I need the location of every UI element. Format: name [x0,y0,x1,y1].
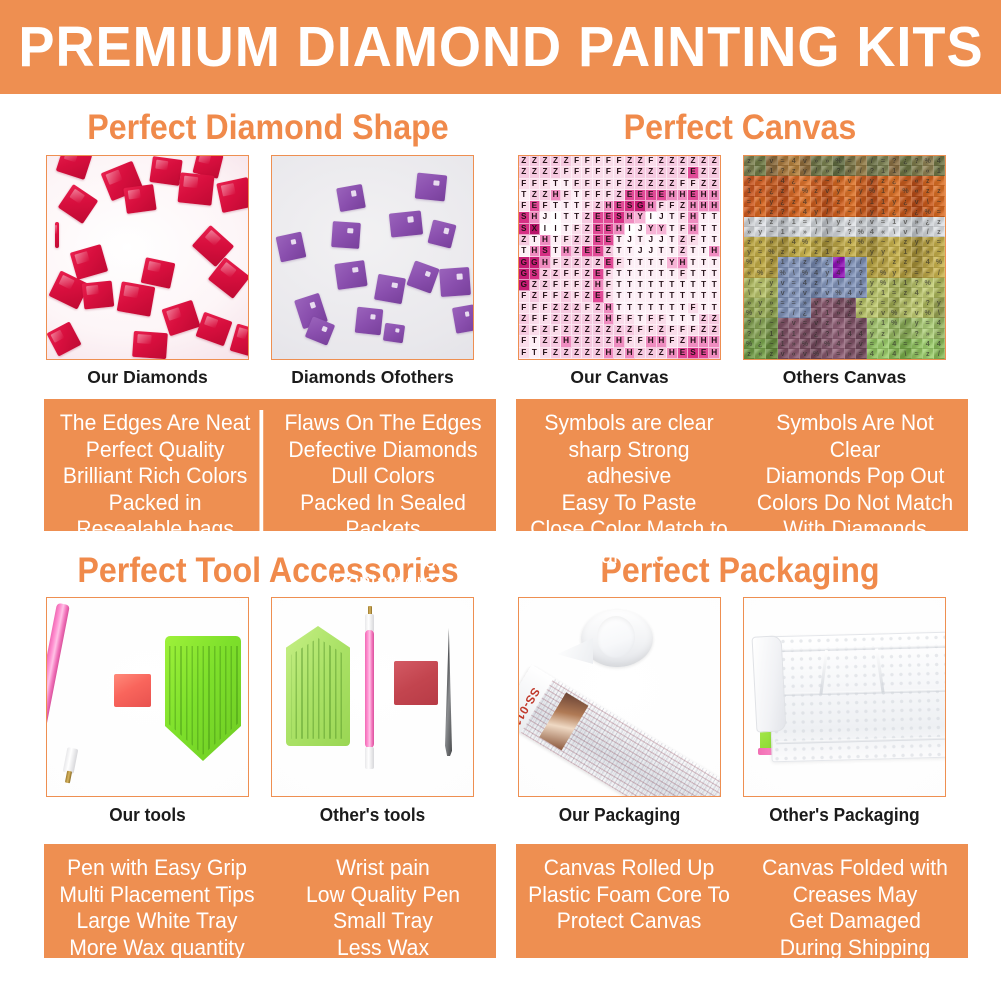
canvas-symbol-cell: E [657,190,668,201]
canvas-symbol-cell: ≈ [912,268,923,278]
canvas-symbol-cell: y [755,298,766,308]
canvas-symbol-cell: F [561,280,572,291]
diamond-bead [452,304,474,333]
canvas-symbol-cell: ≈ [878,156,889,166]
canvas-symbol-cell: T [635,280,646,291]
canvas-symbol-cell: z [778,247,789,257]
canvas-symbol-cell: v [778,278,789,288]
bubble-mailer [768,632,946,763]
canvas-symbol-cell: Z [646,167,657,178]
canvas-symbol-cell: ? [867,166,878,176]
canvas-symbol-cell: y [755,227,766,237]
canvas-symbol-cell: F [572,291,583,302]
photo-our-packaging: SS-011 [518,597,721,797]
canvas-symbol-cell: E [646,190,657,201]
canvas-symbol-cell: « [889,247,900,257]
canvas-symbol-cell: Z [530,167,541,178]
canvas-symbol-cell: v [800,156,811,166]
canvas-symbol-cell: F [551,291,562,302]
canvas-symbol-cell: Z [551,303,562,314]
canvas-symbol-cell: / [878,257,889,267]
canvas-symbol-cell: ~ [755,278,766,288]
canvas-symbol-cell: E [604,235,615,246]
canvas-symbol-cell: T [551,246,562,257]
canvas-symbol-cell: » [789,207,800,217]
canvas-symbol-cell: ? [822,329,833,339]
canvas-symbol-cell: » [923,247,934,257]
canvas-symbol-cell: ? [845,227,856,237]
canvas-symbol-cell: % [934,257,945,267]
canvas-symbol-cell: 4 [789,156,800,166]
canvas-symbol-cell: » [744,166,755,176]
canvas-symbol-cell: T [667,303,678,314]
canvas-symbol-cell: T [561,201,572,212]
canvas-symbol-cell: » [923,329,934,339]
canvas-symbol-cell: % [878,268,889,278]
canvas-symbol-cell: y [822,268,833,278]
diamond-bead [427,219,456,248]
canvas-symbol-cell: H [699,201,710,212]
caption-our-diamonds: Our Diamonds [46,369,249,387]
canvas-symbol-cell: 4 [833,339,844,349]
canvas-symbol-cell: ≈ [845,318,856,328]
canvas-symbol-cell: v [867,318,878,328]
canvas-symbol-cell: E [688,167,699,178]
canvas-symbol-cell: Z [572,336,583,347]
canvas-symbol-cell: E [582,246,593,257]
canvas-symbol-cell: \ [744,288,755,298]
canvas-symbol-cell: F [540,348,551,359]
canvas-symbol-cell: / [755,318,766,328]
canvas-symbol-cell: T [519,190,530,201]
canvas-symbol-cell: Z [561,314,572,325]
canvas-symbol-cell: Z [572,257,583,268]
canvas-symbol-cell: I [625,224,636,235]
canvas-symbol-cell: « [878,227,889,237]
canvas-symbol-cell: F [678,269,689,280]
canvas-symbol-cell: v [867,217,878,227]
canvas-symbol-cell: H [604,348,615,359]
canvas-symbol-cell: F [604,291,615,302]
canvas-symbol-cell: 1 [766,329,777,339]
canvas-symbol-cell: 1 [889,217,900,227]
canvas-symbol-cell: % [833,156,844,166]
canvas-symbol-cell: H [699,336,710,347]
diamond-bead [406,260,439,293]
canvas-symbol-cell: « [856,217,867,227]
canvas-symbol-cell: ≈ [867,339,878,349]
canvas-symbol-cell: » [800,227,811,237]
canvas-symbol-cell: \ [900,349,911,359]
pen-end-cap-icon [365,747,374,769]
applicator-pen-icon [365,630,374,748]
panel-line: Packed in [54,490,257,517]
canvas-symbol-cell: F [540,314,551,325]
canvas-symbol-cell: z [755,217,766,227]
canvas-symbol-cell: T [561,224,572,235]
canvas-symbol-cell: F [519,348,530,359]
canvas-symbol-cell: F [614,314,625,325]
canvas-symbol-cell: I [540,224,551,235]
canvas-symbol-cell: Z [657,167,668,178]
canvas-symbol-cell: ≈ [934,237,945,247]
canvas-symbol-cell: ~ [900,329,911,339]
canvas-symbol-cell: F [572,179,583,190]
diamond-bead [56,155,93,180]
canvas-symbol-cell: Z [582,314,593,325]
canvas-symbol-cell: y [766,278,777,288]
canvas-symbol-cell: z [778,186,789,196]
canvas-symbol-cell: F [625,314,636,325]
canvas-symbol-cell: ~ [878,237,889,247]
canvas-symbol-cell: H [604,201,615,212]
canvas-symbol-cell: Z [709,325,720,336]
canvas-symbol-cell: T [625,269,636,280]
section-title-diamond-shape: Perfect Diamond Shape [58,110,478,145]
canvas-symbol-cell: 1 [778,329,789,339]
panel-line: Easy To Paste [526,490,733,517]
canvas-symbol-cell: Z [561,348,572,359]
panel-column-ours: The Edges Are NeatPerfect QualityBrillia… [51,410,263,531]
canvas-symbol-cell: % [833,288,844,298]
page-title: PREMIUM DIAMOND PAINTING KITS [18,19,983,76]
canvas-symbol-cell: Z [582,269,593,280]
canvas-symbol-cell: 1 [878,186,889,196]
canvas-symbol-cell: Z [635,179,646,190]
canvas-symbol-cell: Z [582,348,593,359]
canvas-symbol-cell: z [934,217,945,227]
canvas-symbol-cell: ~ [934,176,945,186]
canvas-symbol-cell: v [800,349,811,359]
canvas-symbol-cell: v [811,298,822,308]
canvas-symbol-cell: T [699,269,710,280]
canvas-symbol-cell: F [625,336,636,347]
canvas-symbol-cell: ≈ [856,318,867,328]
canvas-symbol-cell: H [699,190,710,201]
diamond-bead [141,257,176,289]
canvas-symbol-cell: Z [540,280,551,291]
canvas-symbol-cell: y [845,257,856,267]
canvas-symbol-cell: y [867,176,878,186]
canvas-symbol-cell: H [646,336,657,347]
canvas-symbol-cell: Z [582,336,593,347]
canvas-symbol-cell: ? [778,207,789,217]
canvas-symbol-cell: F [572,167,583,178]
canvas-symbol-cell: ¿ [800,308,811,318]
canvas-symbol-cell: F [540,201,551,212]
canvas-symbol-cell: 4 [856,329,867,339]
canvas-symbol-cell: T [709,280,720,291]
canvas-symbol-cell: F [519,336,530,347]
canvas-symbol-cell: « [867,237,878,247]
panel-canvas: Symbols are clearsharp Strong adhesiveEa… [516,399,968,531]
canvas-symbol-cell: / [744,278,755,288]
canvas-symbol-cell: ¿ [923,217,934,227]
canvas-symbol-cell: Z [657,348,668,359]
canvas-symbol-cell: z [755,186,766,196]
canvas-symbol-cell: ~ [822,237,833,247]
canvas-symbol-cell: T [709,224,720,235]
canvas-symbol-cell: v [912,308,923,318]
canvas-symbol-cell: I [551,224,562,235]
canvas-symbol-cell: T [667,246,678,257]
canvas-symbol-cell: J [635,246,646,257]
canvas-symbol-cell: Z [699,314,710,325]
diamond-bead [178,172,215,205]
canvas-symbol-cell: F [582,190,593,201]
canvas-symbol-cell: 4 [800,278,811,288]
canvas-symbol-cell: \ [833,278,844,288]
canvas-symbol-cell: Z [540,325,551,336]
canvas-symbol-cell: T [635,257,646,268]
canvas-symbol-cell: ? [912,278,923,288]
canvas-symbol-cell: 1 [789,217,800,227]
canvas-symbol-cell: F [530,179,541,190]
canvas-symbol-cell: / [934,268,945,278]
canvas-symbol-cell: ≈ [934,207,945,217]
canvas-symbol-cell: Z [561,257,572,268]
photo-our-diamonds [46,155,249,360]
canvas-symbol-cell: Z [657,156,668,167]
canvas-symbol-cell: Z [561,325,572,336]
canvas-symbol-cell: T [625,303,636,314]
canvas-symbol-cell: % [889,308,900,318]
canvas-symbol-cell: E [593,212,604,223]
canvas-symbol-cell: Z [582,212,593,223]
canvas-symbol-cell: Z [688,156,699,167]
canvas-symbol-cell: T [530,336,541,347]
canvas-symbol-cell: » [811,288,822,298]
foam-core-tab [557,638,593,664]
canvas-symbol-cell: y [811,207,822,217]
canvas-symbol-cell: 1 [889,166,900,176]
canvas-symbol-cell: z [833,247,844,257]
canvas-symbol-cell: F [614,156,625,167]
canvas-symbol-cell: « [744,268,755,278]
canvas-symbol-cell: ¿ [889,176,900,186]
canvas-symbol-cell: 4 [811,268,822,278]
canvas-symbol-cell: Z [709,167,720,178]
canvas-symbol-cell: « [755,349,766,359]
canvas-symbol-cell: » [822,166,833,176]
canvas-symbol-cell: ≈ [878,298,889,308]
canvas-symbol-cell: ≈ [766,268,777,278]
canvas-symbol-cell: F [540,291,551,302]
canvas-symbol-cell: 4 [934,318,945,328]
canvas-symbol-cell: 4 [833,298,844,308]
canvas-symbol-cell: F [519,291,530,302]
canvas-symbol-cell: v [789,318,800,328]
canvas-symbol-cell: Z [519,156,530,167]
canvas-symbol-cell: / [923,227,934,237]
panel-column-others: Symbols Are Not ClearDiamonds Pop OutCol… [749,410,961,531]
canvas-symbol-cell: Z [572,325,583,336]
canvas-symbol-cell: J [657,235,668,246]
canvas-symbol-cell: « [811,176,822,186]
canvas-symbol-cell: % [800,186,811,196]
canvas-symbol-cell: ~ [800,176,811,186]
canvas-symbol-cell: T [699,212,710,223]
canvas-symbol-cell: ~ [833,237,844,247]
canvas-symbol-cell: 4 [923,339,934,349]
canvas-symbol-cell: \ [856,207,867,217]
canvas-symbol-cell: T [625,257,636,268]
canvas-symbol-cell: 1 [778,227,789,237]
photo-others-canvas: z~v≈4v»»%≈//≈?¿?%4»«1?zy/»?«/?11»««1?~/4… [743,155,946,360]
canvas-symbol-cell: ? [766,308,777,318]
canvas-symbol-cell: » [744,298,755,308]
canvas-symbol-cell: z [900,237,911,247]
canvas-symbol-cell: » [766,237,777,247]
canvas-symbol-cell: E [593,235,604,246]
canvas-symbol-cell: 1 [889,278,900,288]
canvas-symbol-cell: 1 [766,166,777,176]
canvas-symbol-cell: ≈ [878,217,889,227]
canvas-symbol-cell: H [709,348,720,359]
canvas-symbol-cell: F [678,224,689,235]
canvas-symbol-cell: ¿ [778,197,789,207]
canvas-symbol-cell: Z [593,314,604,325]
canvas-symbol-cell: T [572,212,583,223]
our-canvas-art: ZZZZZFFFFFZZFZZZZZZZZZZFFFFFFZZZZZZEZZFF… [519,156,720,359]
canvas-symbol-cell: \ [811,217,822,227]
canvas-symbol-cell: F [582,156,593,167]
canvas-symbol-cell: T [635,303,646,314]
panel-line: Defective Diamonds [280,437,487,464]
canvas-symbol-cell: F [614,167,625,178]
crease-line [819,650,828,694]
canvas-symbol-cell: » [822,156,833,166]
canvas-symbol-cell: 1 [878,166,889,176]
canvas-symbol-cell: 4 [845,288,856,298]
canvas-symbol-cell: F [635,336,646,347]
canvas-symbol-cell: Z [667,179,678,190]
canvas-symbol-cell: F [604,167,615,178]
canvas-symbol-cell: 1 [878,288,889,298]
canvas-symbol-cell: H [646,201,657,212]
canvas-symbol-cell: \ [923,197,934,207]
canvas-symbol-cell: Z [530,156,541,167]
canvas-symbol-cell: / [811,339,822,349]
diamond-bead [55,222,59,248]
canvas-symbol-cell: Z [551,348,562,359]
canvas-symbol-cell: H [614,224,625,235]
canvas-symbol-cell: v [923,237,934,247]
canvas-symbol-cell: z [766,217,777,227]
other-tools-art [272,598,473,796]
canvas-symbol-cell: ≈ [856,349,867,359]
panel-line: Packed In Sealed Packets [280,490,487,543]
canvas-symbol-cell: F [604,156,615,167]
canvas-symbol-cell: / [889,186,900,196]
canvas-symbol-cell: F [572,156,583,167]
canvas-symbol-cell: » [845,349,856,359]
wax-square-icon [394,661,438,705]
canvas-symbol-cell: % [800,237,811,247]
canvas-symbol-cell: / [856,166,867,176]
canvas-symbol-cell: % [822,339,833,349]
canvas-symbol-cell: H [667,190,678,201]
canvas-symbol-cell: F [582,201,593,212]
canvas-symbol-cell: ? [889,298,900,308]
panel-line: Flaws On The Edges [280,410,487,437]
panel-column-ours: Pen with Easy GripMulti Placement TipsLa… [51,855,263,958]
panel-line: Need Storage Containers [280,543,487,596]
canvas-symbol-cell: T [678,291,689,302]
canvas-symbol-cell: G [519,269,530,280]
caption-our-canvas: Our Canvas [518,369,721,387]
canvas-symbol-cell: % [800,268,811,278]
canvas-symbol-cell: H [657,336,668,347]
canvas-symbol-cell: \ [912,227,923,237]
canvas-symbol-cell: y [867,329,878,339]
canvas-symbol-cell: H [678,257,689,268]
canvas-symbol-cell: / [789,308,800,318]
header-banner: PREMIUM DIAMOND PAINTING KITS [0,0,1001,94]
panel-diamond-shape: The Edges Are NeatPerfect QualityBrillia… [44,399,496,531]
canvas-symbol-cell: / [867,156,878,166]
canvas-symbol-cell: T [635,291,646,302]
others-canvas-art: z~v≈4v»»%≈//≈?¿?%4»«1?zy/»?«/?11»««1?~/4… [744,156,945,359]
canvas-symbol-cell: H [709,201,720,212]
canvas-symbol-cell: Z [699,156,710,167]
canvas-symbol-cell: T [646,269,657,280]
canvas-symbol-cell: F [561,235,572,246]
canvas-symbol-cell: T [657,303,668,314]
canvas-symbol-cell: » [766,298,777,308]
panel-line: More Wax quantity [54,935,261,962]
canvas-symbol-cell: F [604,190,615,201]
canvas-symbol-cell: \ [878,339,889,349]
canvas-symbol-cell: J [646,235,657,246]
canvas-symbol-cell: Z [678,235,689,246]
canvas-symbol-cell: H [540,235,551,246]
canvas-symbol-cell: v [822,186,833,196]
canvas-symbol-cell: % [744,339,755,349]
diamond-bead [123,184,156,214]
canvas-symbol-cell: 1 [822,247,833,257]
canvas-symbol-cell: T [709,257,720,268]
canvas-symbol-cell: T [614,235,625,246]
canvas-symbol-cell: T [667,224,678,235]
canvas-symbol-cell: z [900,288,911,298]
canvas-symbol-cell: T [614,280,625,291]
canvas-symbol-cell: ? [778,166,789,176]
canvas-symbol-cell: z [833,197,844,207]
canvas-symbol-cell: 1 [811,308,822,318]
canvas-symbol-cell: z [878,176,889,186]
canvas-symbol-cell: Z [625,179,636,190]
canvas-symbol-cell: T [530,348,541,359]
wax-square-icon [114,674,151,707]
photo-other-diamonds [271,155,474,360]
canvas-symbol-cell: H [709,190,720,201]
canvas-symbol-cell: y [934,298,945,308]
canvas-symbol-cell: z [811,247,822,257]
canvas-symbol-cell: H [709,336,720,347]
canvas-symbol-cell: 4 [867,349,878,359]
photo-our-canvas: ZZZZZFFFFFZZFZZZZZZZZZZFFFFFFZZZZZZEZZFF… [518,155,721,360]
canvas-symbol-cell: v [778,349,789,359]
canvas-symbol-cell: Z [709,314,720,325]
canvas-symbol-cell: » [744,227,755,237]
panel-column-others: Wrist painLow Quality PenSmall TrayLess … [277,855,489,958]
canvas-symbol-cell: Z [540,190,551,201]
canvas-symbol-cell: I [551,212,562,223]
canvas-symbol-cell: T [678,303,689,314]
canvas-symbol-cell: 1 [856,278,867,288]
canvas-symbol-cell: Z [667,167,678,178]
